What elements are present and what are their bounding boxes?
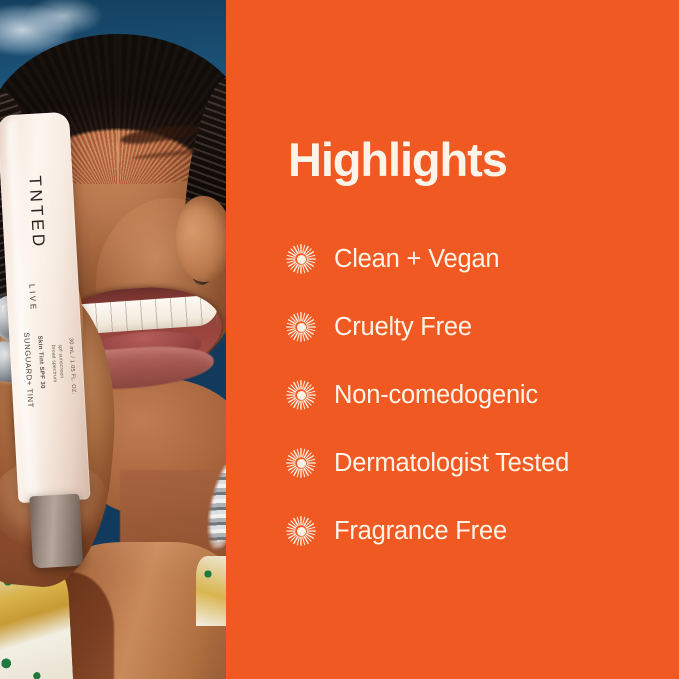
list-item: Clean + Vegan — [286, 225, 676, 293]
list-item: Cruelty Free — [286, 293, 676, 361]
list-item-label: Cruelty Free — [334, 313, 472, 341]
nose — [176, 196, 226, 282]
sunburst-icon — [286, 448, 316, 478]
model-photo: TNTED LIVE SUNGUARD+ TINT Skin Tint SPF … — [0, 0, 226, 679]
tube-sub-brand-text: LIVE — [27, 284, 38, 312]
sunburst-core — [297, 323, 306, 332]
sunburst-core — [297, 391, 306, 400]
sunburst-icon — [286, 380, 316, 410]
sunburst-core — [297, 527, 306, 536]
product-highlights-image: TNTED LIVE SUNGUARD+ TINT Skin Tint SPF … — [0, 0, 679, 679]
list-item: Fragrance Free — [286, 497, 676, 565]
sunburst-core — [297, 459, 306, 468]
list-item-label: Clean + Vegan — [334, 245, 499, 273]
tube-brand-text: TNTED — [24, 175, 48, 250]
page-title: Highlights — [288, 136, 507, 183]
tube-cap — [29, 494, 83, 569]
sunburst-core — [297, 255, 306, 264]
sunburst-icon — [286, 312, 316, 342]
list-item-label: Non-comedogenic — [334, 381, 538, 409]
list-item: Dermatologist Tested — [286, 429, 676, 497]
patterned-shirt-right — [196, 556, 226, 626]
highlights-panel: Highlights Clean + Vegan Cruelty Free — [226, 0, 679, 679]
list-item: Non-comedogenic — [286, 361, 676, 429]
highlights-list: Clean + Vegan Cruelty Free Non-comedogen… — [286, 225, 676, 565]
list-item-label: Fragrance Free — [334, 517, 507, 545]
sunburst-icon — [286, 244, 316, 274]
sunburst-icon — [286, 516, 316, 546]
list-item-label: Dermatologist Tested — [334, 449, 569, 477]
